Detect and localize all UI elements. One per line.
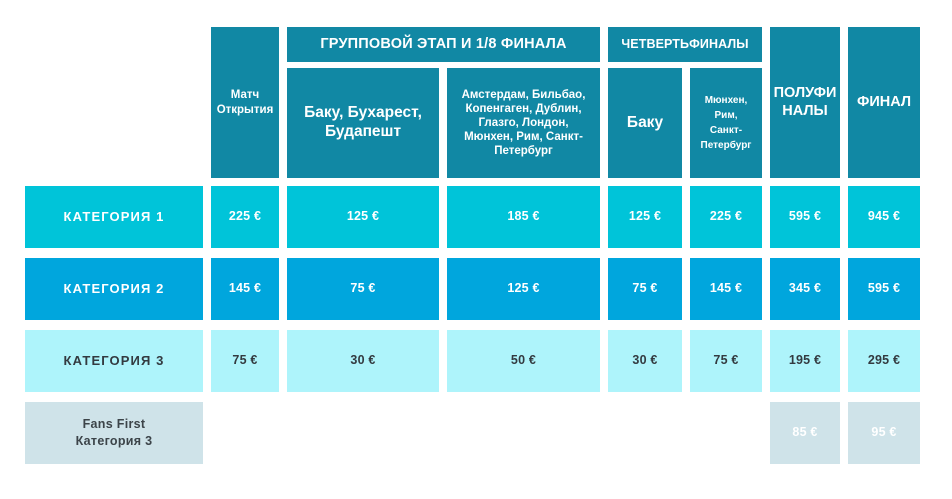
price-cell-fans-first-category-3-semi-finals: 85 €	[770, 402, 840, 464]
column-header-baku-qf: Баку	[608, 68, 682, 178]
column-header-baku-bucharest-budapest: Баку, Бухарест, Будапешт	[287, 68, 439, 178]
price-cell-category-1-munich-rome-spb-qf: 225 €	[690, 186, 762, 248]
column-header-final: ФИНАЛ	[848, 27, 920, 178]
price-cell-category-1-semi-finals: 595 €	[770, 186, 840, 248]
price-cell-category-1-amsterdam-group: 185 €	[447, 186, 600, 248]
price-cell-category-3-semi-finals: 195 €	[770, 330, 840, 392]
group-header-group-stage: ГРУППОВОЙ ЭТАП И 1/8 ФИНАЛА	[287, 27, 600, 62]
price-cell-category-1-opening-match: 225 €	[211, 186, 279, 248]
row-label-category-1: КАТЕГОРИЯ 1	[25, 186, 203, 248]
group-header-quarter-finals: ЧЕТВЕРТЬФИНАЛЫ	[608, 27, 762, 62]
price-cell-category-2-baku-qf: 75 €	[608, 258, 682, 320]
column-header-amsterdam-group: Амстердам, Бильбао, Копенгаген, Дублин, …	[447, 68, 600, 178]
price-cell-category-2-final: 595 €	[848, 258, 920, 320]
price-cell-category-3-baku-bucharest-budapest: 30 €	[287, 330, 439, 392]
row-label-category-2: КАТЕГОРИЯ 2	[25, 258, 203, 320]
column-header-semi-finals: ПОЛУФИ НАЛЫ	[770, 27, 840, 178]
price-cell-category-2-munich-rome-spb-qf: 145 €	[690, 258, 762, 320]
price-cell-category-1-final: 945 €	[848, 186, 920, 248]
price-cell-category-1-baku-qf: 125 €	[608, 186, 682, 248]
price-cell-category-2-opening-match: 145 €	[211, 258, 279, 320]
price-cell-category-3-opening-match: 75 €	[211, 330, 279, 392]
row-label-category-3: КАТЕГОРИЯ 3	[25, 330, 203, 392]
price-cell-category-3-baku-qf: 30 €	[608, 330, 682, 392]
price-cell-category-2-baku-bucharest-budapest: 75 €	[287, 258, 439, 320]
column-header-opening-match: Матч Открытия	[211, 27, 279, 178]
price-table: ГРУППОВОЙ ЭТАП И 1/8 ФИНАЛА ЧЕТВЕРТЬФИНА…	[0, 0, 952, 499]
column-header-munich-rome-spb-qf: Мюнхен, Рим, Санкт- Петербург	[690, 68, 762, 178]
price-cell-category-2-amsterdam-group: 125 €	[447, 258, 600, 320]
price-cell-category-3-amsterdam-group: 50 €	[447, 330, 600, 392]
price-cell-category-1-baku-bucharest-budapest: 125 €	[287, 186, 439, 248]
price-cell-category-2-semi-finals: 345 €	[770, 258, 840, 320]
price-cell-category-3-final: 295 €	[848, 330, 920, 392]
row-label-fans-first-category-3: Fans First Категория 3	[25, 402, 203, 464]
price-cell-category-3-munich-rome-spb-qf: 75 €	[690, 330, 762, 392]
price-cell-fans-first-category-3-final: 95 €	[848, 402, 920, 464]
